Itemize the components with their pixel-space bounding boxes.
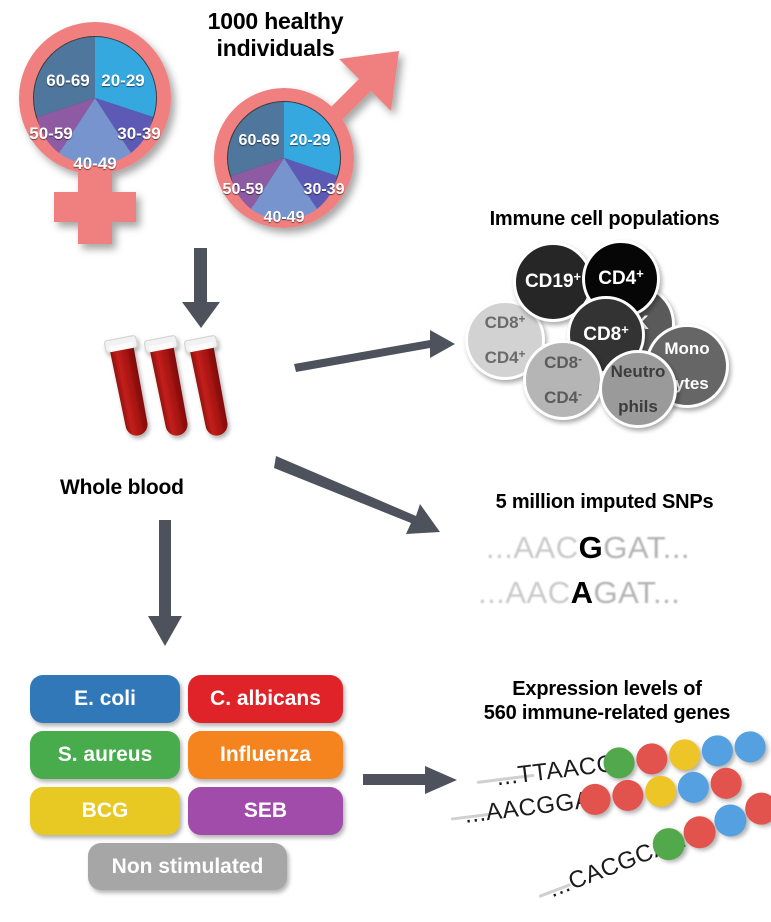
immune-cell-cd8neg-cd4neg[interactable]: CD8- CD4- — [523, 340, 603, 420]
snp-top-suffix: GAT... — [603, 530, 690, 565]
stimulation-non-stimulated[interactable]: Non stimulated — [88, 843, 287, 890]
strand-2-nuc-2 — [611, 778, 646, 813]
arrow-blood-to-snps — [274, 446, 459, 544]
immune-cell-neutrophils-line1: Neutro — [611, 363, 666, 380]
figure-canvas: 1000 healthy individuals Immune cell pop… — [0, 0, 771, 922]
snp-top-prefix: ...AAC — [486, 530, 579, 565]
label-whole-blood: Whole blood — [60, 476, 260, 501]
stimulation-bcg-label: BCG — [82, 799, 129, 823]
stimulation-panel: E. coli C. albicans S. aureus Influenza … — [30, 675, 350, 890]
snp-bottom-highlight: A — [571, 575, 594, 610]
arrow-blood-to-stimulations — [140, 520, 190, 648]
female-age-pie — [34, 37, 156, 165]
stimulation-s-aureus[interactable]: S. aureus — [30, 731, 180, 779]
strand-2-nuc-4 — [676, 770, 711, 805]
section-title-snps: 5 million imputed SNPs — [452, 491, 757, 515]
immune-cell-cd8pos-cd4pos-line2: CD4+ — [485, 349, 526, 366]
snp-top-highlight: G — [579, 530, 604, 565]
snp-sequence-bottom: ...AACAGAT... — [478, 575, 680, 611]
stimulation-c-albicans-label: C. albicans — [210, 687, 321, 711]
strand-1-nuc-3 — [667, 738, 702, 773]
immune-cell-neutrophils[interactable]: Neutro phils — [599, 350, 677, 428]
stimulation-e-coli-label: E. coli — [74, 687, 136, 711]
stimulation-non-stimulated-label: Non stimulated — [112, 855, 264, 879]
blood-tube-3 — [184, 335, 234, 438]
stimulation-seb[interactable]: SEB — [188, 787, 343, 835]
immune-cell-cd8neg-cd4neg-line2: CD4- — [544, 389, 582, 406]
title-expression-line2: 560 immune-related genes — [452, 702, 762, 726]
strand-1-nuc-4 — [700, 734, 735, 769]
immune-cell-monocytes-line1: Mono — [664, 340, 709, 357]
strand-2-nuc-3 — [643, 774, 678, 809]
stimulation-bcg[interactable]: BCG — [30, 787, 180, 835]
immune-cell-cd8neg-cd4neg-line1: CD8- — [544, 354, 582, 371]
stimulation-s-aureus-label: S. aureus — [58, 743, 153, 767]
arrow-cohort-to-blood — [176, 248, 226, 330]
immune-cell-neutrophils-line2: phils — [611, 398, 666, 415]
female-symbol: 20-29 30-39 40-49 50-59 60-69 — [8, 14, 188, 254]
strand-1-nuc-2 — [635, 742, 670, 777]
arrow-blood-to-immune — [292, 326, 457, 382]
male-symbol: 20-29 30-39 40-49 50-59 60-69 — [203, 36, 423, 251]
stimulation-c-albicans[interactable]: C. albicans — [188, 675, 343, 723]
snp-bottom-suffix: GAT... — [593, 575, 680, 610]
expression-strands: ...TTAACGG ...AACGGAT ...CACGCAA — [455, 735, 765, 915]
stimulation-influenza[interactable]: Influenza — [188, 731, 343, 779]
male-age-pie — [228, 102, 340, 220]
section-title-immune-cells: Immune cell populations — [452, 208, 757, 232]
strand-1-nuc-5 — [733, 730, 768, 765]
stimulation-seb-label: SEB — [244, 799, 287, 823]
snp-sequence-top: ...AACGGAT... — [486, 530, 690, 566]
immune-cell-cd8pos-label: CD8+ — [583, 325, 629, 344]
strand-2-nuc-5 — [709, 766, 744, 801]
immune-cell-cluster: NK Mono cytes CD8+ CD4+ CD19+ CD4+ CD8+ … — [465, 240, 760, 425]
arrow-stimulations-to-expression — [363, 762, 459, 798]
section-title-expression: Expression levels of 560 immune-related … — [452, 678, 762, 725]
immune-cell-cd19pos-label: CD19+ — [525, 272, 581, 291]
stimulation-influenza-label: Influenza — [220, 743, 311, 767]
stimulation-e-coli[interactable]: E. coli — [30, 675, 180, 723]
snp-sequences: ...AACGGAT... ...AACAGAT... — [470, 530, 750, 620]
snp-bottom-prefix: ...AAC — [478, 575, 571, 610]
immune-cell-cd4pos-label: CD4+ — [598, 269, 644, 288]
whole-blood-tubes — [100, 330, 240, 470]
title-individuals-line1: 1000 healthy — [168, 8, 383, 35]
title-expression-line1: Expression levels of — [452, 678, 762, 702]
immune-cell-cd8pos-cd4pos-line1: CD8+ — [485, 314, 526, 331]
